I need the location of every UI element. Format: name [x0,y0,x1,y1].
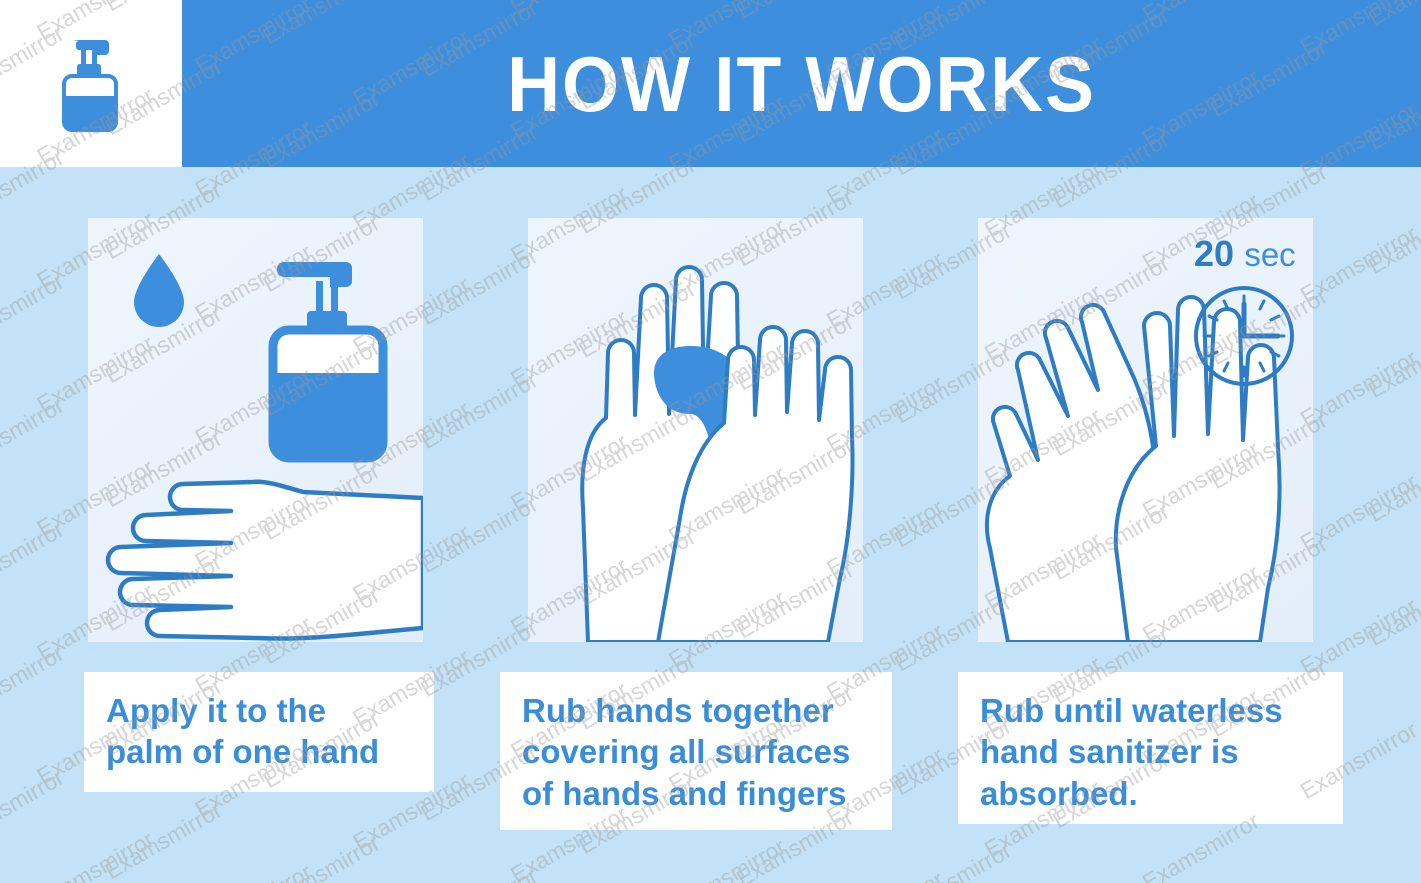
page-title: HOW IT WORKS [219,0,1384,167]
sanitizer-bottle-icon [54,34,128,134]
rub-until-absorbed-art: 20 sec [978,218,1313,642]
step-1-caption: Apply it to the palm of one hand [84,672,434,792]
infographic-poster: HOW IT WORKS [0,0,1421,883]
open-palm-illustration [108,482,423,639]
sanitizer-bottle-body [273,330,383,458]
step-3-caption: Rub until waterless hand sanitizer is ab… [958,672,1343,824]
rub-hands-art [528,218,863,642]
timer-unit: sec [1244,236,1295,273]
apply-to-palm-art [88,218,423,642]
step-2-caption: Rub hands together covering all surfaces… [500,672,892,830]
logo-box [0,0,182,167]
header-bar: HOW IT WORKS [0,0,1421,167]
step-3-illustration: 20 sec [978,218,1313,642]
droplet-icon [134,254,184,327]
step-1-illustration [88,218,423,642]
timer-value: 20 [1194,233,1234,274]
sanitizer-pump-icon [277,262,352,330]
step-2-illustration [528,218,863,642]
clock-icon [1196,288,1292,384]
